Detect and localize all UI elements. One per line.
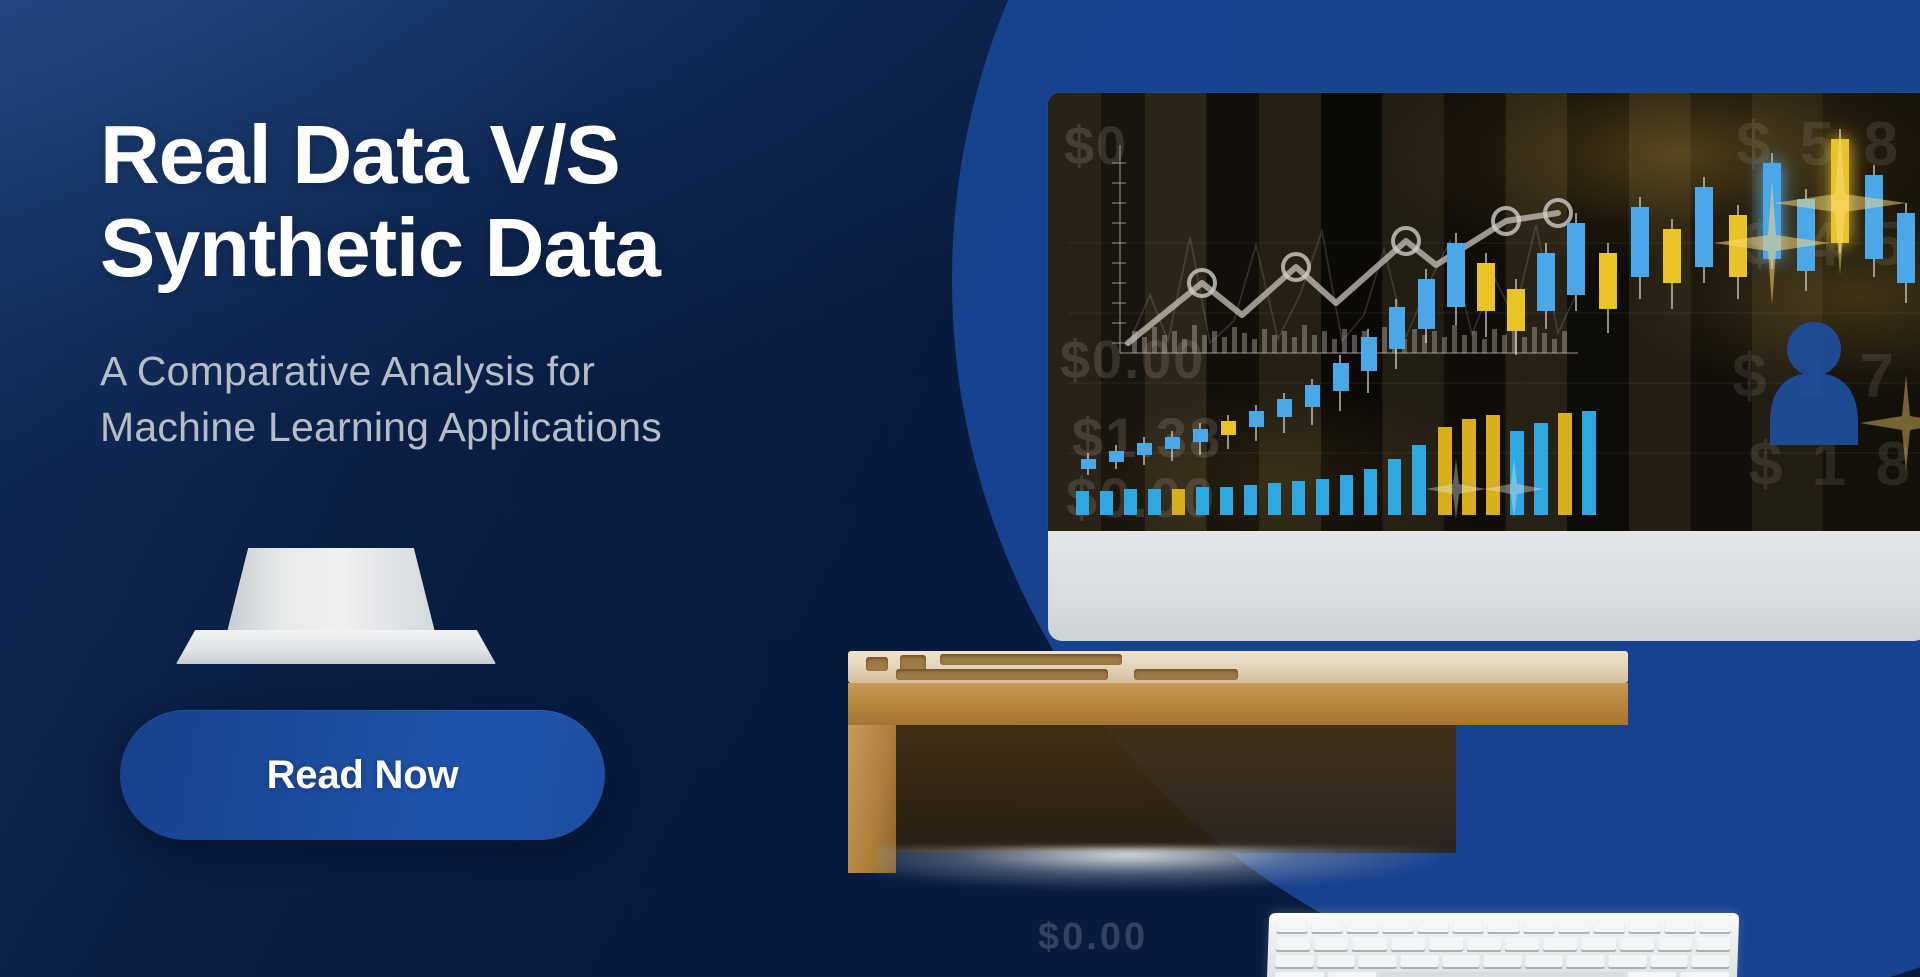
hero-banner: Real Data V/S Synthetic Data A Comparati… [0,0,1920,977]
keyboard-key[interactable] [1692,955,1730,968]
keyboard-row [1275,972,1729,977]
stand-slot-long-bottom [896,669,1108,680]
keyboard-key[interactable] [1699,919,1731,932]
candlestick-chart [1048,93,1920,531]
keyboard-key[interactable] [1327,972,1376,977]
keyboard-key[interactable] [1543,937,1578,950]
keyboard-key[interactable] [1275,972,1324,977]
keyboard-key[interactable] [1382,919,1414,932]
keyboard-key[interactable] [1347,919,1379,932]
keyboard-key[interactable] [1627,972,1676,977]
keyboard-key[interactable] [1558,919,1590,932]
keyboard-key[interactable] [1505,937,1540,950]
keyboard-key[interactable] [1429,937,1464,950]
keyboard-key[interactable] [1525,955,1563,968]
keyboard-key[interactable] [1275,955,1313,968]
keyboard-key[interactable] [1567,955,1605,968]
keyboard-key[interactable] [1400,955,1438,968]
keyboard-key[interactable] [1312,919,1344,932]
stand-cast-shadow [876,847,1576,893]
monitor-foot [176,630,496,664]
headline-line-2: Synthetic Data [100,201,800,294]
stand-top-surface [848,651,1628,683]
keyboard-key[interactable] [1442,955,1480,968]
keyboard-key[interactable] [1359,955,1397,968]
keyboard-key[interactable] [1276,937,1311,950]
keyboard-key[interactable] [1664,919,1696,932]
desktop-monitor: $0 $0.00 $1.38 $0.00 $ 5 8 $ 4 5 $ 1 7 $… [1048,93,1920,641]
keyboard[interactable] [1267,913,1740,977]
keyboard-key[interactable] [1523,919,1555,932]
keyboard-key[interactable] [1277,919,1309,932]
keyboard-key[interactable] [1467,937,1502,950]
monitor-screen: $0 $0.00 $1.38 $0.00 $ 5 8 $ 4 5 $ 1 7 $… [1048,93,1920,531]
keyboard-key[interactable] [1352,937,1387,950]
keyboard-key[interactable] [1608,955,1646,968]
read-now-button[interactable]: Read Now [120,710,605,840]
page-title: Real Data V/S Synthetic Data [100,108,800,294]
stand-slot-right [1134,669,1238,680]
keyboard-key[interactable] [1650,955,1688,968]
cta-container: Read Now [120,710,605,840]
keyboard-key[interactable] [1620,937,1655,950]
keyboard-key[interactable] [1696,937,1731,950]
keyboard-key[interactable] [1488,919,1520,932]
ghost-price-under-stand: $0.00 [1038,916,1148,959]
stand-underside-shadow [896,725,1456,853]
hero-copy: Real Data V/S Synthetic Data A Comparati… [100,108,800,455]
stand-front-edge [848,683,1628,725]
keyboard-key[interactable] [1680,972,1729,977]
monitor-riser-stand [848,651,1628,725]
keyboard-row [1277,919,1731,932]
keyboard-key[interactable] [1453,919,1485,932]
keyboard-spacebar[interactable] [1380,972,1624,977]
keyboard-key[interactable] [1484,955,1522,968]
keyboard-key[interactable] [1317,955,1355,968]
keyboard-key[interactable] [1418,919,1450,932]
keyboard-key[interactable] [1658,937,1693,950]
keyboard-key[interactable] [1629,919,1661,932]
stand-slot-small [866,657,888,671]
keyboard-row [1275,955,1729,968]
keyboard-rows [1275,919,1731,977]
stand-slot-long-top [940,654,1122,665]
keyboard-key[interactable] [1581,937,1616,950]
keyboard-key[interactable] [1594,919,1626,932]
keyboard-key[interactable] [1314,937,1349,950]
keyboard-key[interactable] [1390,937,1425,950]
keyboard-row [1276,937,1730,950]
monitor-chin [1048,531,1920,641]
keyboard-body [1267,913,1740,977]
subtitle: A Comparative Analysis for Machine Learn… [100,294,760,455]
headline-line-1: Real Data V/S [100,108,800,201]
